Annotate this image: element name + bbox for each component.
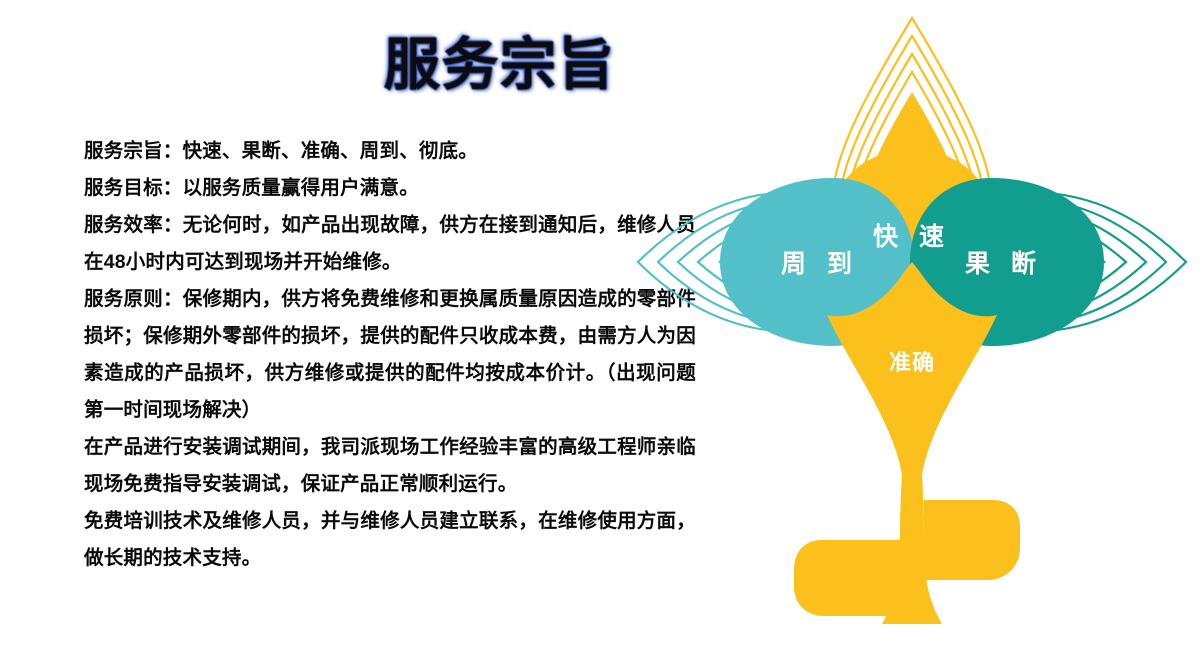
- paragraph-service-purpose: 服务宗旨：快速、果断、准确、周到、彻底。: [84, 133, 696, 170]
- paragraph-service-principle: 服务原则：保修期内，供方将免费维修和更换属质量原因造成的零部件损坏；保修期外零部…: [84, 281, 696, 429]
- paragraph-installation: 在产品进行安装调试期间，我司派现场工作经验丰富的高级工程师亲临现场免费指导安装调…: [84, 429, 696, 503]
- service-policy-text-block: 服务宗旨：快速、果断、准确、周到、彻底。 服务目标：以服务质量赢得用户满意。 服…: [84, 133, 696, 577]
- paragraph-service-efficiency: 服务效率：无论何时，如产品出现故障，供方在接到通知后，维修人员在48小时内可达到…: [84, 207, 696, 281]
- slide-canvas: 服务宗旨 服务宗旨：快速、果断、准确、周到、彻底。 服务目标：以服务质量赢得用户…: [0, 0, 1200, 660]
- petal-top-label: 快 速: [873, 223, 951, 251]
- paragraph-training: 免费培训技术及维修人员，并与维修人员建立联系，在维修使用方面，做长期的技术支持。: [84, 503, 696, 577]
- petal-left-label: 周 到: [781, 250, 859, 278]
- four-petal-flower-diagram: 快 速 周 到 果 断 准确: [624, 0, 1200, 660]
- leaf-right: [924, 500, 1020, 580]
- paragraph-service-goal: 服务目标：以服务质量赢得用户满意。: [84, 170, 696, 207]
- petal-bottom-label: 准确: [889, 350, 935, 375]
- leaf-left: [794, 540, 900, 616]
- petal-right-label: 果 断: [965, 249, 1043, 278]
